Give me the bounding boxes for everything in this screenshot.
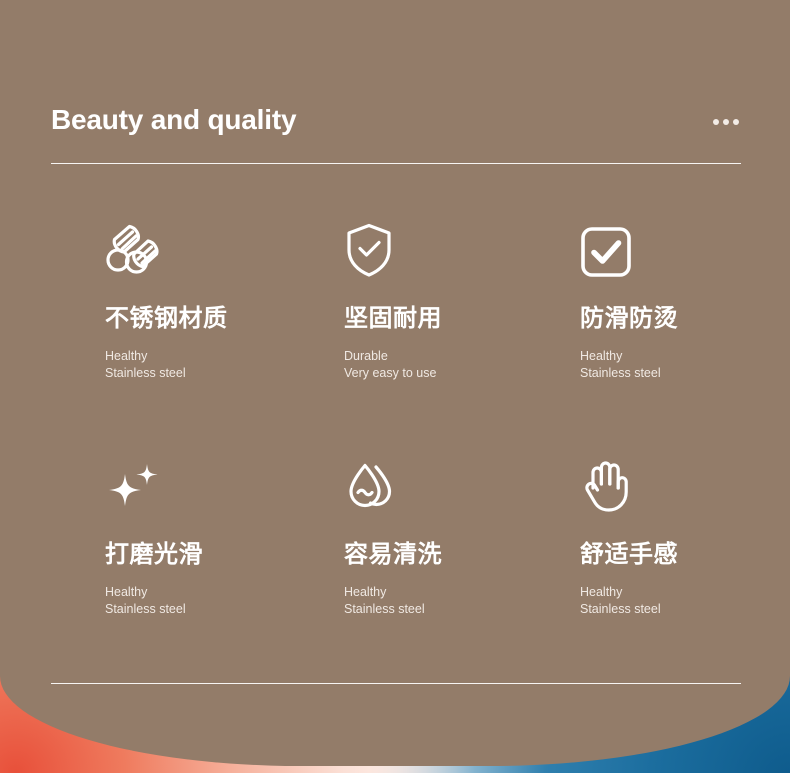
feature-subtitle-line2: Stainless steel xyxy=(344,601,580,618)
panel-header: Beauty and quality xyxy=(51,96,741,144)
steel-pipes-icon xyxy=(105,216,344,278)
feature-title: 容易清洗 xyxy=(344,540,580,570)
feature-title: 坚固耐用 xyxy=(344,304,580,334)
divider-top xyxy=(51,163,741,164)
feature-subtitle: Healthy Stainless steel xyxy=(105,348,344,382)
feature-item-easy-clean: 容易清洗 Healthy Stainless steel xyxy=(344,452,580,688)
feature-title: 舒适手感 xyxy=(580,540,745,570)
feature-title: 不锈钢材质 xyxy=(105,304,344,334)
more-dot xyxy=(723,119,729,125)
water-drops-icon xyxy=(344,452,580,514)
feature-subtitle: Durable Very easy to use xyxy=(344,348,580,382)
more-dot xyxy=(713,119,719,125)
feature-item-polished: 打磨光滑 Healthy Stainless steel xyxy=(105,452,344,688)
feature-subtitle: Healthy Stainless steel xyxy=(580,348,745,382)
shield-check-icon xyxy=(344,216,580,278)
feature-subtitle: Healthy Stainless steel xyxy=(580,584,745,618)
feature-subtitle-line1: Healthy xyxy=(105,585,147,599)
feature-subtitle-line1: Healthy xyxy=(344,585,386,599)
feature-title: 防滑防烫 xyxy=(580,304,745,334)
feature-subtitle-line1: Healthy xyxy=(580,585,622,599)
feature-subtitle-line2: Stainless steel xyxy=(105,365,344,382)
feature-subtitle: Healthy Stainless steel xyxy=(344,584,580,618)
feature-grid: 不锈钢材质 Healthy Stainless steel 坚固耐用 Durab… xyxy=(105,216,745,688)
page-root: Beauty and quality xyxy=(0,0,790,773)
feature-item-durable: 坚固耐用 Durable Very easy to use xyxy=(344,216,580,452)
feature-subtitle-line2: Stainless steel xyxy=(105,601,344,618)
feature-subtitle-line1: Healthy xyxy=(580,349,622,363)
feature-title: 打磨光滑 xyxy=(105,540,344,570)
feature-subtitle-line2: Stainless steel xyxy=(580,601,745,618)
feature-subtitle-line1: Durable xyxy=(344,349,388,363)
feature-subtitle: Healthy Stainless steel xyxy=(105,584,344,618)
checkbox-checked-icon xyxy=(580,216,745,278)
feature-subtitle-line2: Very easy to use xyxy=(344,365,580,382)
feature-subtitle-line2: Stainless steel xyxy=(580,365,745,382)
feature-item-anti-slip: 防滑防烫 Healthy Stainless steel xyxy=(580,216,745,452)
feature-item-comfort-grip: 舒适手感 Healthy Stainless steel xyxy=(580,452,745,688)
feature-subtitle-line1: Healthy xyxy=(105,349,147,363)
sparkle-icon xyxy=(105,452,344,514)
feature-panel: Beauty and quality xyxy=(0,0,790,766)
more-options-icon[interactable] xyxy=(711,113,741,131)
more-dot xyxy=(733,119,739,125)
feature-item-stainless-steel: 不锈钢材质 Healthy Stainless steel xyxy=(105,216,344,452)
page-title: Beauty and quality xyxy=(51,103,296,137)
open-hand-icon xyxy=(580,452,745,514)
